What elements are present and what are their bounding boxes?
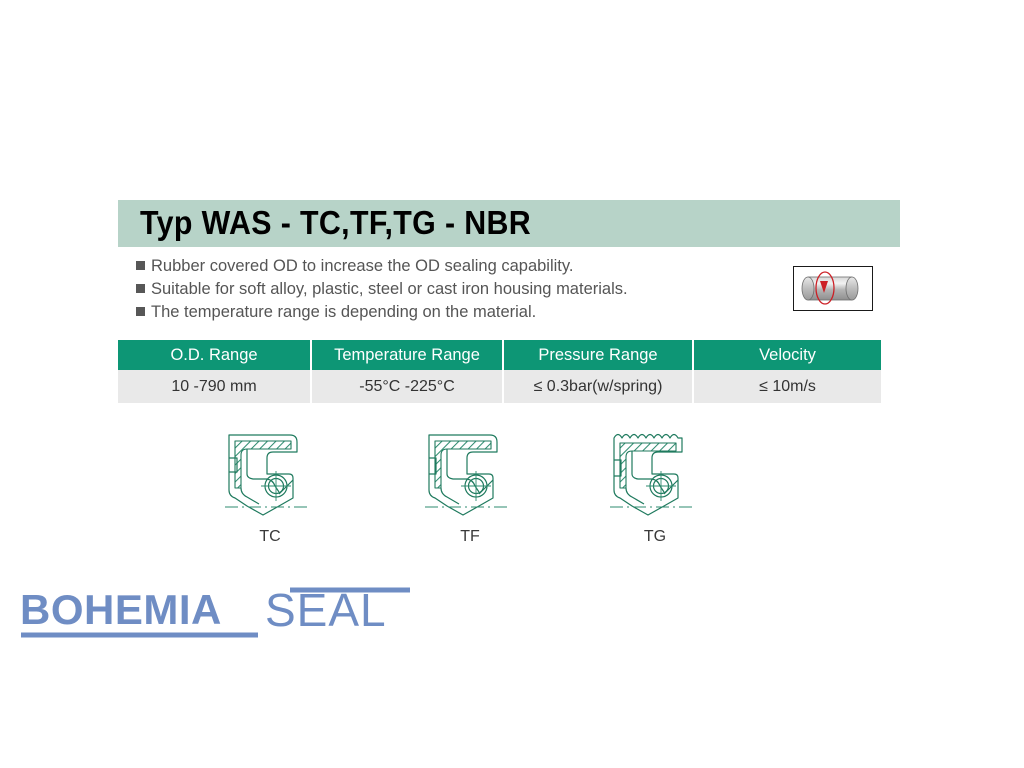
seal-diagram-tg: TG — [590, 418, 720, 546]
seal-cross-section-tc — [205, 418, 335, 526]
specification-table: O.D. Range Temperature Range Pressure Ra… — [118, 340, 881, 403]
company-logo: BOHEMIA SEAL — [18, 582, 418, 644]
seal-cross-section-tg — [590, 418, 720, 526]
column-header-temperature-range: Temperature Range — [311, 340, 503, 370]
bullet-square-icon — [136, 261, 145, 270]
column-header-pressure-range: Pressure Range — [503, 340, 693, 370]
seal-cross-section-tf — [405, 418, 535, 526]
list-item: The temperature range is depending on th… — [136, 302, 776, 324]
rotating-shaft-icon — [793, 266, 873, 311]
list-item: Suitable for soft alloy, plastic, steel … — [136, 279, 776, 301]
feature-text: Rubber covered OD to increase the OD sea… — [151, 256, 574, 276]
seal-label-tf: TF — [405, 528, 535, 546]
list-item: Rubber covered OD to increase the OD sea… — [136, 256, 776, 278]
table-row: 10 -790 mm -55°C -225°C ≤ 0.3bar(w/sprin… — [118, 370, 881, 403]
bullet-square-icon — [136, 307, 145, 316]
cell-od-range: 10 -790 mm — [118, 370, 311, 403]
cell-temperature-range: -55°C -225°C — [311, 370, 503, 403]
page-title: Typ WAS - TC,TF,TG - NBR — [140, 204, 531, 242]
seal-diagram-tc: TC — [205, 418, 335, 546]
seal-label-tg: TG — [590, 528, 720, 546]
feature-text: Suitable for soft alloy, plastic, steel … — [151, 279, 628, 299]
feature-text: The temperature range is depending on th… — [151, 302, 536, 322]
table-header-row: O.D. Range Temperature Range Pressure Ra… — [118, 340, 881, 370]
seal-diagram-tf: TF — [405, 418, 535, 546]
logo-text-bohemia: BOHEMIA — [20, 586, 222, 633]
feature-list: Rubber covered OD to increase the OD sea… — [136, 256, 776, 325]
seal-label-tc: TC — [205, 528, 335, 546]
title-band: Typ WAS - TC,TF,TG - NBR — [118, 200, 900, 247]
cell-pressure-range: ≤ 0.3bar(w/spring) — [503, 370, 693, 403]
column-header-velocity: Velocity — [693, 340, 881, 370]
cell-velocity: ≤ 10m/s — [693, 370, 881, 403]
column-header-od-range: O.D. Range — [118, 340, 311, 370]
bullet-square-icon — [136, 284, 145, 293]
